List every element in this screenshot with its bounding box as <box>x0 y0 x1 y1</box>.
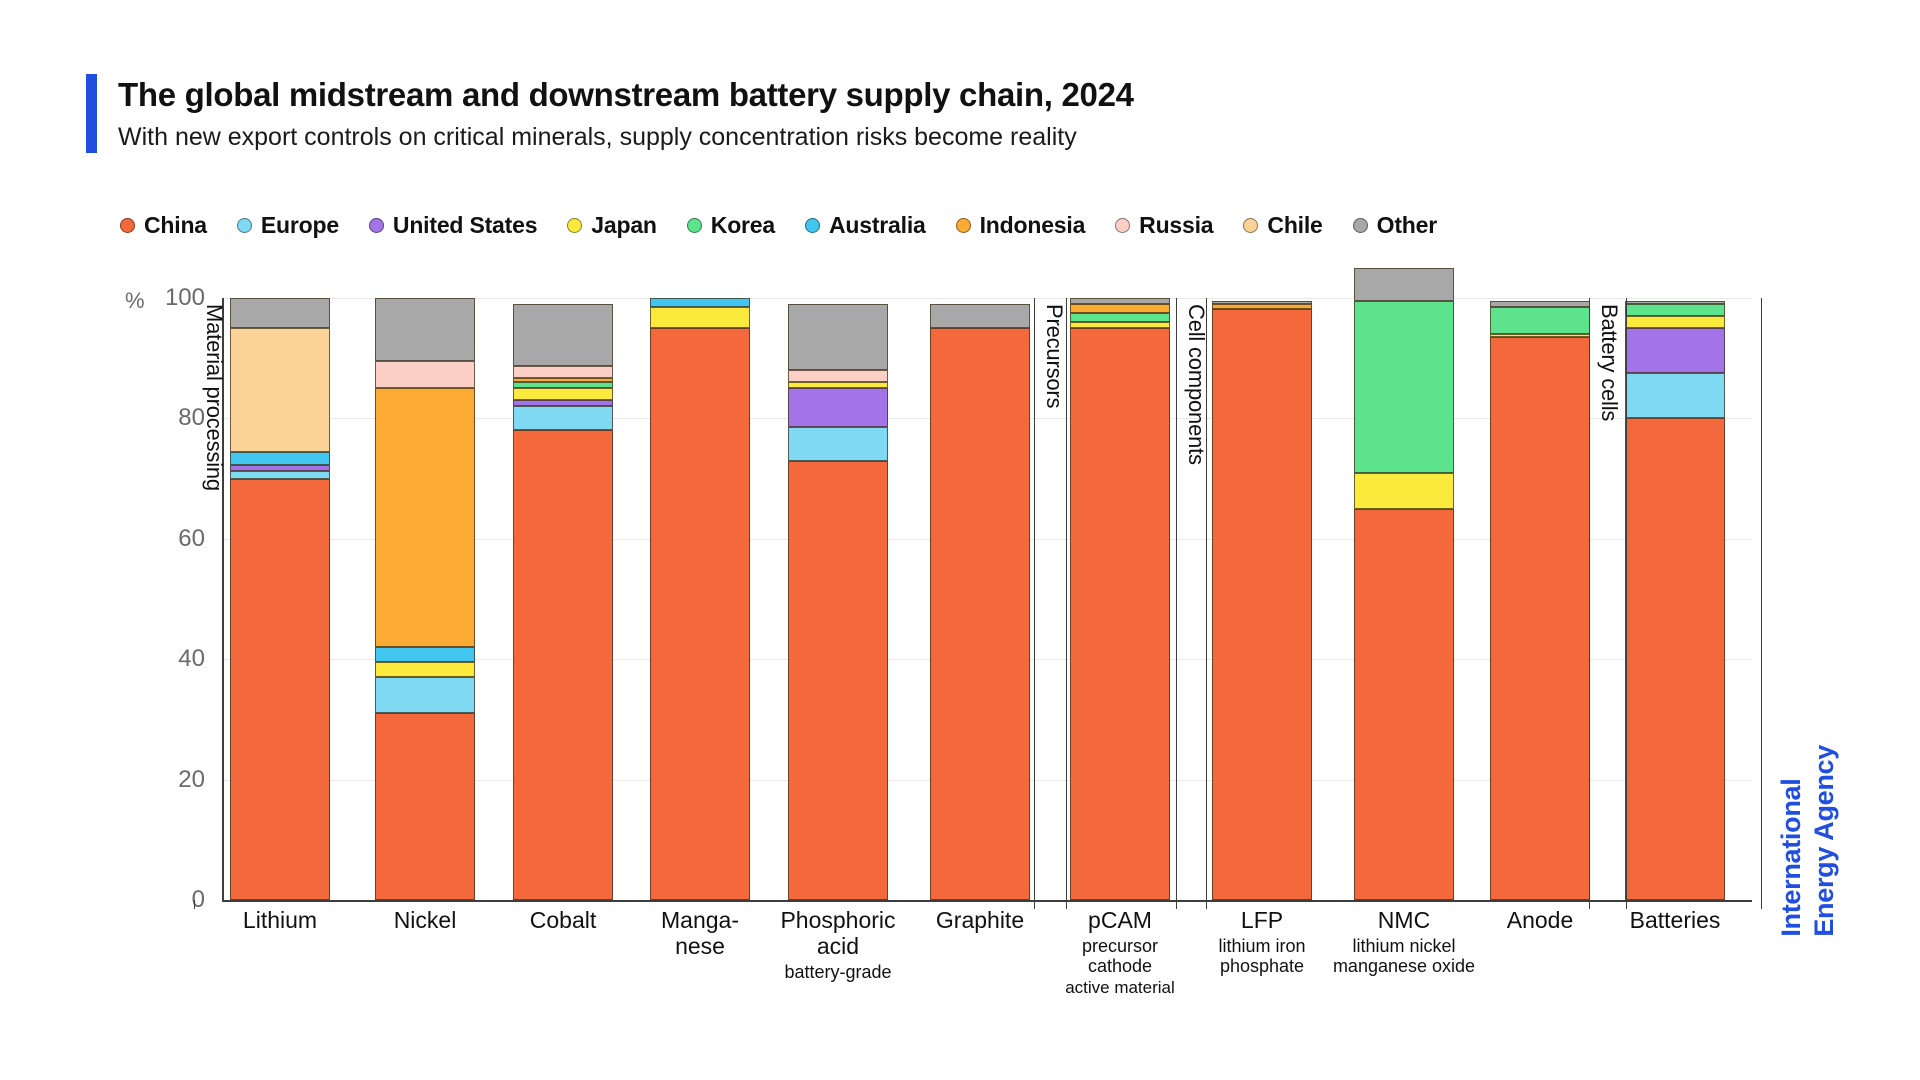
bar-segment-korea[interactable] <box>1490 307 1590 334</box>
bar-column[interactable] <box>930 298 1030 900</box>
bar-segment-indonesia[interactable] <box>1212 304 1312 309</box>
bar-segment-indonesia[interactable] <box>375 388 475 647</box>
bar-segment-japan[interactable] <box>788 382 888 388</box>
bar-segment-china[interactable] <box>650 328 750 900</box>
x-axis-tickmark <box>1034 900 1035 909</box>
bar-segment-other[interactable] <box>1354 268 1454 301</box>
stage-label-material-processing: Material processing <box>201 304 227 491</box>
bar-segment-japan[interactable] <box>650 307 750 328</box>
bar-column[interactable] <box>788 298 888 900</box>
x-axis-tickmark <box>194 900 195 909</box>
bar-segment-other[interactable] <box>230 298 330 328</box>
bar-segment-japan[interactable] <box>513 388 613 400</box>
x-axis-tickmark <box>1176 900 1177 909</box>
stage-divider <box>1176 298 1177 900</box>
x-axis-tickmark <box>1761 900 1762 909</box>
bar-segment-australia[interactable] <box>650 298 750 307</box>
y-axis-tick-label: 60 <box>178 525 205 553</box>
x-axis-tickmark <box>1626 900 1627 909</box>
x-tick-sub: lithium nickelmanganese oxide <box>1314 936 1494 976</box>
iea-brand: InternationalEnergy Agency <box>1775 745 1841 937</box>
stage-divider <box>1034 298 1035 900</box>
stage-label-precursors: Precursors <box>1041 304 1067 408</box>
x-tick-sub: battery-grade <box>748 962 928 982</box>
brand-line-1: International <box>1776 779 1806 937</box>
x-axis-tickmark <box>1066 900 1067 909</box>
bar-segment-united-states[interactable] <box>513 400 613 406</box>
bar-segment-europe[interactable] <box>1625 373 1725 418</box>
bar-segment-korea[interactable] <box>1625 304 1725 316</box>
x-axis-tickmark <box>1206 900 1207 909</box>
y-axis-tick-label: 20 <box>178 766 205 794</box>
stage-divider <box>1761 298 1762 900</box>
bar-segment-china[interactable] <box>230 479 330 900</box>
bar-segment-korea[interactable] <box>1354 301 1454 473</box>
bar-segment-indonesia[interactable] <box>1070 304 1170 313</box>
bar-segment-other[interactable] <box>1625 301 1725 304</box>
bar-segment-indonesia[interactable] <box>513 378 613 382</box>
bar-segment-other[interactable] <box>1212 301 1312 304</box>
bar-segment-other[interactable] <box>375 298 475 361</box>
bar-segment-europe[interactable] <box>230 471 330 478</box>
x-axis-tickmark <box>1589 900 1590 909</box>
bar-segment-china[interactable] <box>513 430 613 900</box>
y-axis-tick-label: 40 <box>178 645 205 673</box>
y-axis-unit: % <box>125 288 145 314</box>
bar-segment-japan[interactable] <box>1490 334 1590 337</box>
bar-segment-china[interactable] <box>1490 337 1590 900</box>
x-axis-line <box>222 900 1752 902</box>
bar-segment-japan[interactable] <box>1070 322 1170 328</box>
bar-column[interactable] <box>1354 298 1454 900</box>
stage-label-battery-cells: Battery cells <box>1596 304 1622 421</box>
x-axis-tick-label: Batteries <box>1585 908 1765 934</box>
bar-segment-korea[interactable] <box>1070 313 1170 322</box>
bar-segment-other[interactable] <box>513 304 613 366</box>
bar-segment-united-states[interactable] <box>230 465 330 471</box>
stage-label-cell-components: Cell components <box>1183 304 1209 465</box>
bar-segment-russia[interactable] <box>375 361 475 388</box>
bar-segment-russia[interactable] <box>513 366 613 378</box>
bar-column[interactable] <box>1212 298 1312 900</box>
bar-segment-united-states[interactable] <box>788 388 888 427</box>
stage-divider <box>1589 298 1590 900</box>
x-tick-main: Batteries <box>1585 908 1765 934</box>
bar-segment-china[interactable] <box>1354 509 1454 900</box>
bar-segment-russia[interactable] <box>788 370 888 382</box>
bar-segment-australia[interactable] <box>230 452 330 466</box>
bar-column[interactable] <box>375 298 475 900</box>
bar-column[interactable] <box>650 298 750 900</box>
bar-segment-korea[interactable] <box>513 382 613 388</box>
bar-segment-china[interactable] <box>930 328 1030 900</box>
bar-column[interactable] <box>513 298 613 900</box>
bar-segment-united-states[interactable] <box>1625 328 1725 373</box>
bar-segment-china[interactable] <box>1625 418 1725 900</box>
bar-column[interactable] <box>1625 298 1725 900</box>
bar-segment-japan[interactable] <box>1625 316 1725 328</box>
plot-wrapper: % 020406080100 LithiumNickelCobaltManga-… <box>0 0 1920 1080</box>
bar-segment-japan[interactable] <box>375 662 475 677</box>
bar-segment-europe[interactable] <box>788 427 888 460</box>
x-tick-sub2: active material <box>1030 978 1210 997</box>
bar-segment-china[interactable] <box>1070 328 1170 900</box>
bar-segment-china[interactable] <box>375 713 475 900</box>
y-axis-tick-label: 100 <box>165 284 205 312</box>
bar-segment-other[interactable] <box>788 304 888 370</box>
bar-column[interactable] <box>230 298 330 900</box>
plot-area: 020406080100 <box>222 298 1752 900</box>
bar-segment-europe[interactable] <box>375 677 475 713</box>
bar-segment-japan[interactable] <box>1354 473 1454 509</box>
bar-segment-china[interactable] <box>1212 309 1312 900</box>
stage-divider <box>1626 298 1627 900</box>
bar-segment-other[interactable] <box>1070 298 1170 304</box>
bar-column[interactable] <box>1490 298 1590 900</box>
bar-segment-china[interactable] <box>788 461 888 900</box>
brand-line-2: Energy Agency <box>1809 745 1839 937</box>
bar-segment-chile[interactable] <box>230 328 330 451</box>
bar-segment-other[interactable] <box>930 304 1030 328</box>
bar-segment-other[interactable] <box>1490 301 1590 307</box>
bar-segment-australia[interactable] <box>375 647 475 662</box>
bar-segment-europe[interactable] <box>513 406 613 430</box>
bar-column[interactable] <box>1070 298 1170 900</box>
